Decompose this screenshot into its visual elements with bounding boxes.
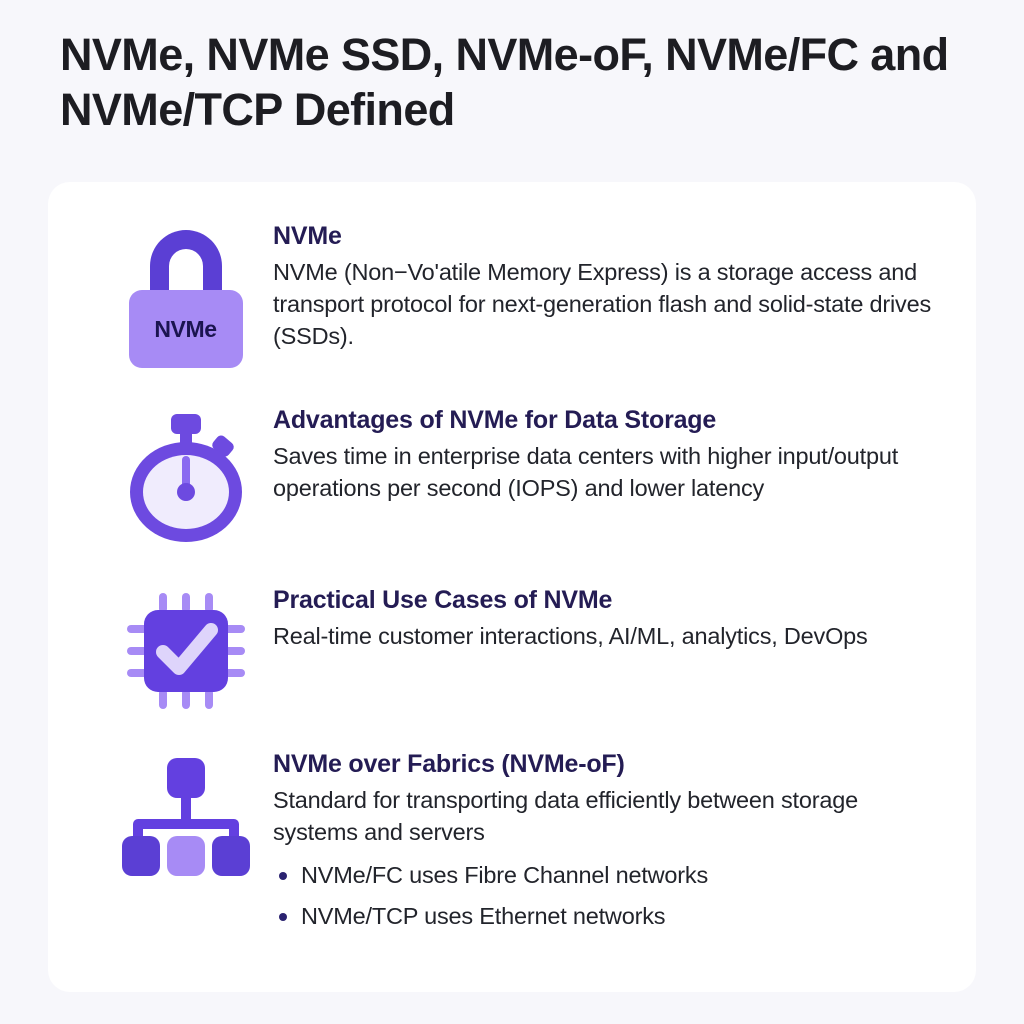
section-heading: NVMe (273, 220, 946, 252)
section-heading: Practical Use Cases of NVMe (273, 584, 946, 616)
infographic-page: NVMe, NVMe SSD, NVMe-oF, NVMe/FC and NVM… (0, 0, 1024, 1024)
network-child-right (212, 836, 250, 876)
network-root-node (167, 758, 205, 798)
list-item-label: NVMe/TCP uses Ethernet networks (301, 903, 665, 929)
icon-column: NVMe (98, 220, 273, 368)
list-item: NVMe/FC uses Fibre Channel networks (301, 860, 946, 892)
text-column: Advantages of NVMe for Data Storage Save… (273, 404, 946, 505)
network-hierarchy-icon (121, 756, 251, 878)
sections-list: NVMe NVMe NVMe (Non−Vo'atile Memory Expr… (48, 182, 976, 941)
chip-check-icon (125, 592, 247, 710)
icon-column (98, 584, 273, 710)
section-nvme-of: NVMe over Fabrics (NVMe-oF) Standard for… (48, 748, 976, 941)
content-card: NVMe NVMe NVMe (Non−Vo'atile Memory Expr… (48, 182, 976, 992)
bullet-dot-icon (279, 872, 287, 880)
list-item-label: NVMe/FC uses Fibre Channel networks (301, 862, 708, 888)
list-item: NVMe/TCP uses Ethernet networks (301, 901, 946, 933)
bullet-dot-icon (279, 913, 287, 921)
lock-body-label: NVMe (129, 290, 243, 368)
icon-column (98, 748, 273, 878)
network-child-middle (167, 836, 205, 876)
section-body: Real-time customer interactions, AI/ML, … (273, 621, 946, 653)
network-child-left (122, 836, 160, 876)
section-advantages: Advantages of NVMe for Data Storage Save… (48, 404, 976, 544)
icon-column (98, 404, 273, 544)
section-body: Standard for transporting data efficient… (273, 785, 946, 849)
section-body: NVMe (Non−Vo'atile Memory Express) is a … (273, 257, 946, 353)
bullet-list: NVMe/FC uses Fibre Channel networks NVMe… (273, 860, 946, 932)
stopwatch-center-dot (177, 483, 195, 501)
text-column: Practical Use Cases of NVMe Real-time cu… (273, 584, 946, 653)
section-body: Saves time in enterprise data centers wi… (273, 441, 946, 505)
section-use-cases: Practical Use Cases of NVMe Real-time cu… (48, 584, 976, 710)
section-heading: Advantages of NVMe for Data Storage (273, 404, 946, 436)
lock-icon: NVMe (126, 228, 246, 368)
lock-body: NVMe (129, 290, 243, 368)
page-title: NVMe, NVMe SSD, NVMe-oF, NVMe/FC and NVM… (60, 28, 1010, 138)
section-nvme: NVMe NVMe NVMe (Non−Vo'atile Memory Expr… (48, 220, 976, 368)
text-column: NVMe NVMe (Non−Vo'atile Memory Express) … (273, 220, 946, 353)
text-column: NVMe over Fabrics (NVMe-oF) Standard for… (273, 748, 946, 941)
stopwatch-icon (125, 412, 247, 544)
section-heading: NVMe over Fabrics (NVMe-oF) (273, 748, 946, 780)
